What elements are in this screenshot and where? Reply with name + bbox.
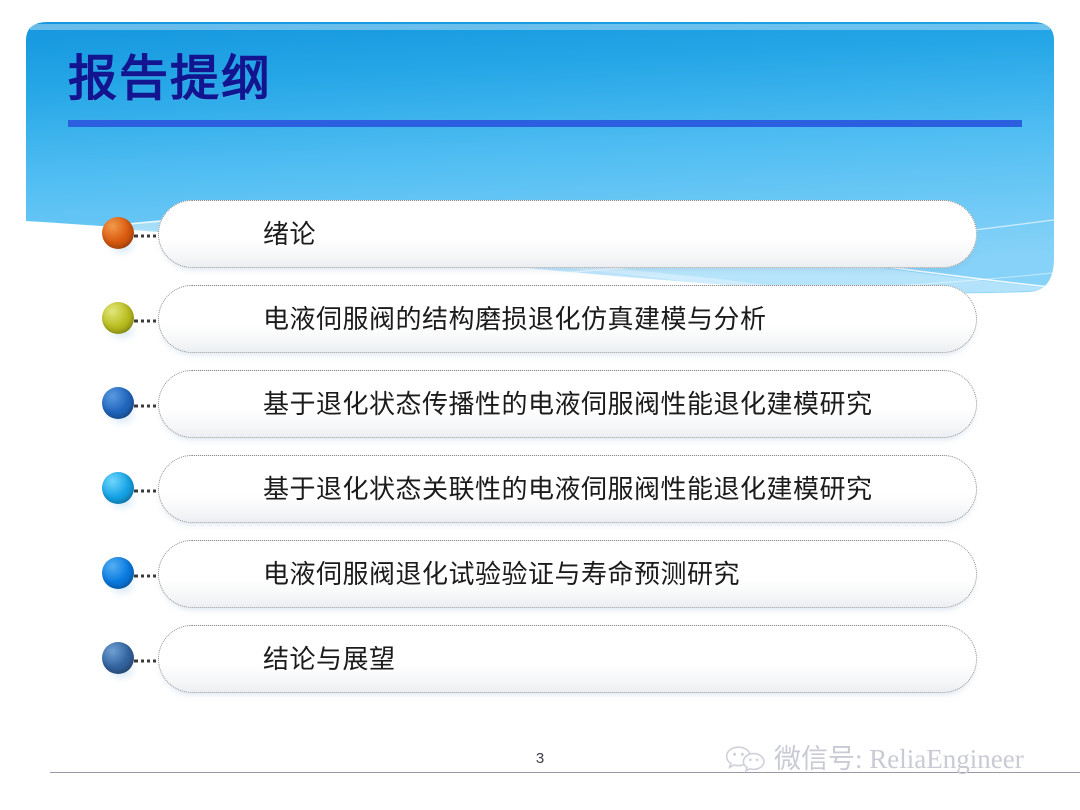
outline-row[interactable]: 绪论 [0, 196, 1080, 276]
outline-list: 绪论 电液伺服阀的结构磨损退化仿真建模与分析 基于退化状态传播性的电液伺服阀性能… [0, 196, 1080, 706]
outline-pill[interactable]: 绪论 [158, 200, 977, 268]
outline-row[interactable]: 结论与展望 [0, 621, 1080, 701]
slide-canvas: 报告提纲 绪论 电液伺服阀的结构磨损退化仿真建模与分析 [0, 0, 1080, 810]
bullet-sphere-icon [102, 217, 134, 249]
outline-row[interactable]: 电液伺服阀退化试验验证与寿命预测研究 [0, 536, 1080, 616]
outline-pill[interactable]: 结论与展望 [158, 625, 977, 693]
wechat-watermark: 微信号: ReliaEngineer [724, 744, 1024, 774]
bullet-sphere-icon [102, 387, 134, 419]
outline-row[interactable]: 基于退化状态关联性的电液伺服阀性能退化建模研究 [0, 451, 1080, 531]
outline-pill[interactable]: 电液伺服阀的结构磨损退化仿真建模与分析 [158, 285, 977, 353]
outline-pill[interactable]: 基于退化状态传播性的电液伺服阀性能退化建模研究 [158, 370, 977, 438]
title-underline [68, 120, 1022, 127]
outline-row[interactable]: 基于退化状态传播性的电液伺服阀性能退化建模研究 [0, 366, 1080, 446]
bullet-sphere-icon [102, 472, 134, 504]
outline-item-label: 电液伺服阀退化试验验证与寿命预测研究 [263, 557, 740, 591]
outline-item-label: 基于退化状态传播性的电液伺服阀性能退化建模研究 [263, 387, 873, 421]
bullet-sphere-icon [102, 642, 134, 674]
bullet-sphere-icon [102, 302, 134, 334]
outline-item-label: 绪论 [263, 217, 316, 251]
outline-pill[interactable]: 电液伺服阀退化试验验证与寿命预测研究 [158, 540, 977, 608]
watermark-label: 微信号: ReliaEngineer [774, 744, 1024, 774]
outline-row[interactable]: 电液伺服阀的结构磨损退化仿真建模与分析 [0, 281, 1080, 361]
outline-item-label: 结论与展望 [263, 642, 396, 676]
bullet-sphere-icon [102, 557, 134, 589]
page-number: 3 [528, 750, 552, 767]
outline-item-label: 电液伺服阀的结构磨损退化仿真建模与分析 [263, 302, 767, 336]
outline-pill[interactable]: 基于退化状态关联性的电液伺服阀性能退化建模研究 [158, 455, 977, 523]
wechat-icon [724, 744, 768, 774]
page-title: 报告提纲 [68, 48, 272, 110]
outline-item-label: 基于退化状态关联性的电液伺服阀性能退化建模研究 [263, 472, 873, 506]
